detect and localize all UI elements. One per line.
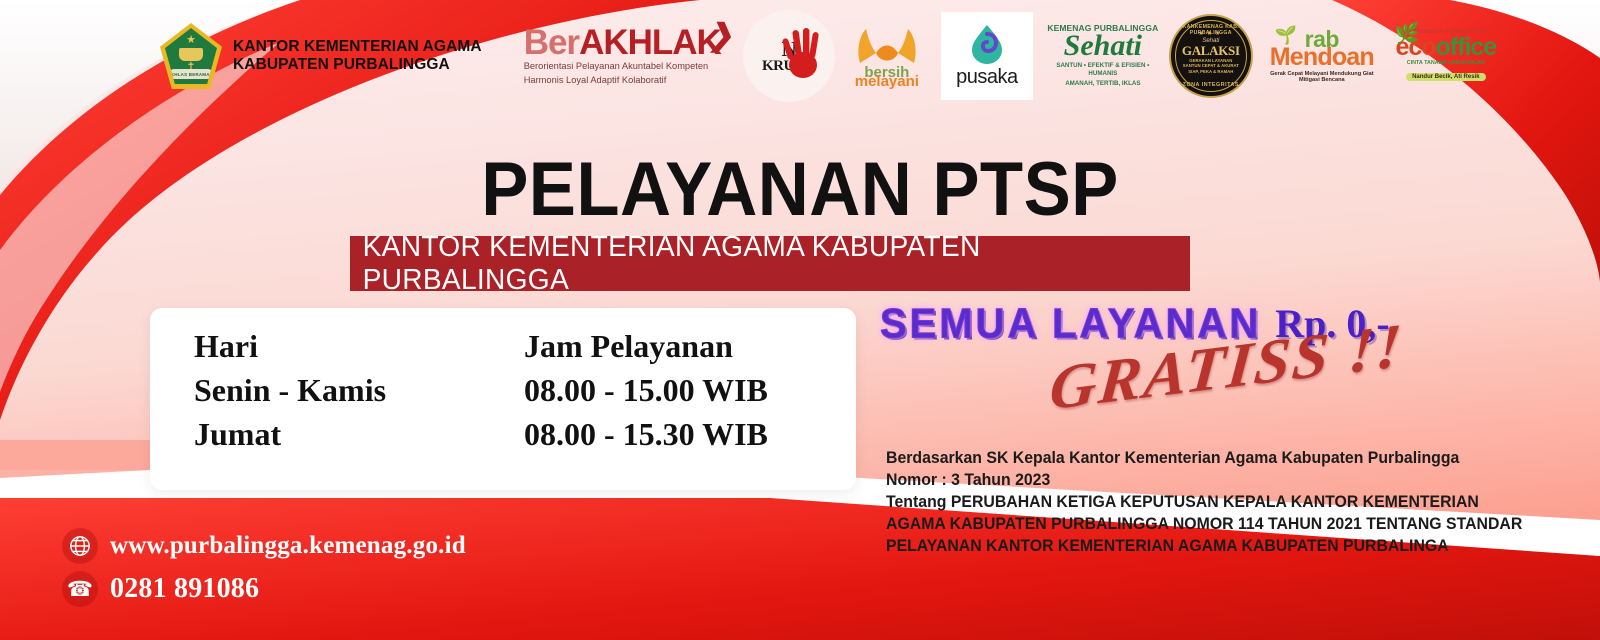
berakhlak-suffix: AKHLAK xyxy=(579,23,721,62)
leaf-icon: 🌿 xyxy=(1395,24,1420,44)
service-hours-table: Hari Jam Pelayanan Senin - Kamis 08.00 -… xyxy=(194,328,814,460)
sprout-icon: 🌱 xyxy=(1275,26,1297,44)
subtitle-text: KANTOR KEMENTERIAN AGAMA KABUPATEN PURBA… xyxy=(363,231,1178,297)
sehati-tagline-1: SANTUN • EFEKTIF & EFISIEN • HUMANIS xyxy=(1043,62,1163,79)
star-icon: ★ xyxy=(186,35,196,46)
kemenag-line-2: KABUPATEN PURBALINGGA xyxy=(233,56,482,74)
contact-block: www.purbalingga.kemenag.go.id ☎ 0281 891… xyxy=(62,528,466,614)
pusaka-droplet-icon xyxy=(968,23,1006,65)
legal-line: Berdasarkan SK Kepala Kantor Kementerian… xyxy=(886,448,1520,470)
grab-mendoan-logo: 🌱 rab Mendoan Gerak Cepat Melayani Mendu… xyxy=(1261,28,1383,83)
red-hand-icon xyxy=(781,24,825,82)
pusaka-label: pusaka xyxy=(956,66,1018,89)
telephone-icon: ☎ xyxy=(62,571,98,607)
stars-icon: ★★★ xyxy=(1171,30,1251,37)
legal-line: PELAYANAN KANTOR KEMENTERIAN AGAMA KABUP… xyxy=(886,536,1520,558)
berakhlak-wordmark: BerAKHLAK xyxy=(524,26,721,59)
logo-strip: ★ ✝ IKHLAS BERAMAL KANTOR KEMENTERIAN AG… xyxy=(0,0,1600,112)
row-hours-value: 08.00 - 15.00 WIB xyxy=(524,372,814,416)
galaksi-zona-integritas-badge: KANKEMENAG KAB. PURBALINGGA ★★★ Sehati G… xyxy=(1169,14,1253,98)
melayani-label: melayani xyxy=(855,73,919,90)
phone-number[interactable]: 0281 891086 xyxy=(110,573,259,605)
book-icon xyxy=(179,48,203,61)
globe-icon xyxy=(62,528,98,564)
legal-line: Nomor : 3 Tahun 2023 xyxy=(886,470,1520,492)
page-title: PELAYANAN PTSP xyxy=(56,152,1544,228)
table-row: Jumat 08.00 - 15.30 WIB xyxy=(194,416,814,460)
table-row: Senin - Kamis 08.00 - 15.00 WIB xyxy=(194,372,814,416)
website-row[interactable]: www.purbalingga.kemenag.go.id xyxy=(62,528,466,564)
hands-bird-icon xyxy=(850,23,924,67)
subtitle-banner: KANTOR KEMENTERIAN AGAMA KABUPATEN PURBA… xyxy=(350,236,1190,291)
sehati-tagline-2: AMANAH, TERTIB, IKLAS xyxy=(1043,80,1163,88)
berakhlak-tagline-2: Harmonis Loyal Adaptif Kolaboratif xyxy=(524,75,721,87)
promo-block: SEMUA LAYANANRp. 0,- GRATISS !! xyxy=(880,300,1580,425)
kemenag-wordmark: KANTOR KEMENTERIAN AGAMA KABUPATEN PURBA… xyxy=(233,38,482,75)
website-url[interactable]: www.purbalingga.kemenag.go.id xyxy=(110,532,466,560)
legal-line: Tentang PERUBAHAN KETIGA KEPUTUSAN KEPAL… xyxy=(886,492,1520,514)
berakhlak-prefix: Ber xyxy=(524,23,579,62)
headline-area: PELAYANAN PTSP xyxy=(0,152,1600,228)
column-header-day: Hari xyxy=(194,328,524,372)
kemenag-crest-icon: ★ ✝ IKHLAS BERAMAL xyxy=(160,23,222,89)
office-word: office xyxy=(1436,33,1497,61)
phone-row[interactable]: ☎ 0281 891086 xyxy=(62,571,466,607)
row-hours-value: 08.00 - 15.30 WIB xyxy=(524,416,814,460)
table-header-row: Hari Jam Pelayanan xyxy=(194,328,814,372)
row-day-value: Jumat xyxy=(194,416,524,460)
eco-office-pill-label: Nandur Becik, Ati Resik xyxy=(1406,73,1485,81)
grab-mendoan-line-2: Mendoan xyxy=(1261,45,1383,70)
pusaka-logo: pusaka xyxy=(941,12,1033,100)
row-day-value: Senin - Kamis xyxy=(194,372,524,416)
kemenag-logo-group: ★ ✝ IKHLAS BERAMAL KANTOR KEMENTERIAN AG… xyxy=(160,23,482,89)
no-korupsi-logo: N KRUPSI xyxy=(743,10,835,102)
galaksi-bottom-label: ZONA INTEGRITAS xyxy=(1171,82,1251,88)
legal-line: AGAMA KABUPATEN PURBALINGGA NOMOR 114 TA… xyxy=(886,514,1520,536)
bersih-melayani-logo: bersih melayani xyxy=(841,23,933,89)
legal-basis-text: Berdasarkan SK Kepala Kantor Kementerian… xyxy=(886,448,1546,558)
grab-mendoan-tagline: Gerak Cepat Melayani Mendukung Giat Miti… xyxy=(1261,72,1383,83)
berakhlak-tagline-1: Berorientasi Pelayanan Akuntabel Kompete… xyxy=(524,61,721,73)
eco-office-tagline: CINTA TANAMA LINGKUNGAN xyxy=(1387,61,1505,66)
eco-office-logo: 🌿 KANKEMENAG PURBALINGGA ecooffice CINTA… xyxy=(1387,30,1505,83)
ptsp-service-banner: ★ ✝ IKHLAS BERAMAL KANTOR KEMENTERIAN AG… xyxy=(0,0,1600,640)
service-hours-card: Hari Jam Pelayanan Senin - Kamis 08.00 -… xyxy=(150,308,856,490)
sehati-wordmark: Sehati xyxy=(1043,32,1163,61)
berakhlak-logo: BerAKHLAK ❯ Berorientasi Pelayanan Akunt… xyxy=(510,26,721,87)
sehati-logo: KEMENAG PURBALINGGA Sehati SANTUN • EFEK… xyxy=(1043,24,1163,88)
kemenag-line-1: KANTOR KEMENTERIAN AGAMA xyxy=(233,38,482,56)
crest-ribbon-label: IKHLAS BERAMAL xyxy=(169,69,213,79)
column-header-hours: Jam Pelayanan xyxy=(524,328,814,372)
